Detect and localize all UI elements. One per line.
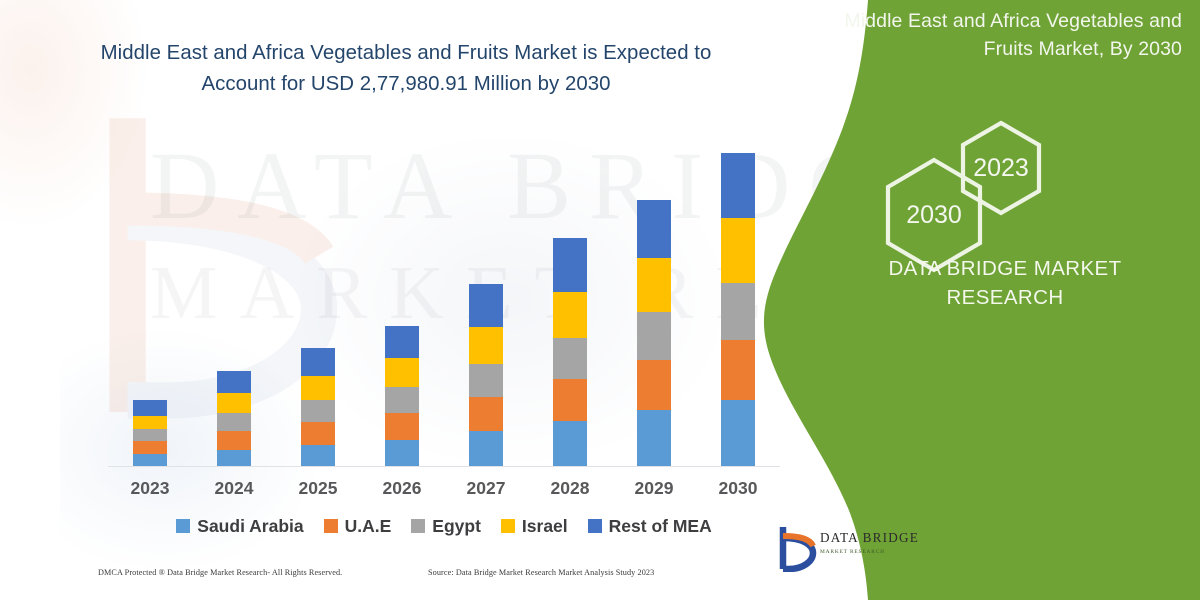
x-axis-label-2025: 2025 bbox=[278, 478, 358, 499]
legend-label: Egypt bbox=[432, 516, 481, 537]
bar-segment-2028-saudiarabia bbox=[553, 421, 587, 466]
right-panel-brand-name: DATA BRIDGE MARKET RESEARCH bbox=[855, 255, 1155, 312]
x-axis-labels: 20232024202520262027202820292030 bbox=[108, 478, 780, 506]
legend-swatch-icon bbox=[588, 519, 602, 533]
x-axis-label-2023: 2023 bbox=[110, 478, 190, 499]
legend-label: Israel bbox=[522, 516, 568, 537]
legend-item-egypt[interactable]: Egypt bbox=[411, 516, 481, 537]
bar-segment-2025-israel bbox=[301, 376, 335, 400]
bar-segment-2028-uae bbox=[553, 379, 587, 421]
bar-segment-2024-uae bbox=[217, 431, 251, 450]
legend-label: Rest of MEA bbox=[609, 516, 712, 537]
bar-2029 bbox=[637, 200, 671, 466]
bar-segment-2023-restofmea bbox=[133, 400, 167, 416]
bar-segment-2030-uae bbox=[721, 340, 755, 400]
bar-segment-2026-saudiarabia bbox=[385, 440, 419, 466]
bar-segment-2029-uae bbox=[637, 360, 671, 410]
legend-label: Saudi Arabia bbox=[197, 516, 303, 537]
brand-logo-tagline: MARKET RESEARCH bbox=[820, 549, 920, 555]
bar-segment-2023-saudiarabia bbox=[133, 454, 167, 466]
bar-2026 bbox=[385, 326, 419, 466]
bar-segment-2025-restofmea bbox=[301, 348, 335, 376]
x-axis-label-2024: 2024 bbox=[194, 478, 274, 499]
footer-dmca-text: DMCA Protected ® Data Bridge Market Rese… bbox=[98, 568, 342, 577]
bar-segment-2030-saudiarabia bbox=[721, 400, 755, 466]
infographic-canvas: DATA BRIDGE MARKET RESEARCH 202320242025… bbox=[0, 0, 1200, 600]
x-axis-label-2028: 2028 bbox=[530, 478, 610, 499]
bar-segment-2025-saudiarabia bbox=[301, 445, 335, 466]
legend-item-restofmea[interactable]: Rest of MEA bbox=[588, 516, 712, 537]
bar-segment-2024-saudiarabia bbox=[217, 450, 251, 466]
bar-segment-2023-israel bbox=[133, 416, 167, 429]
x-axis-label-2027: 2027 bbox=[446, 478, 526, 499]
bar-segment-2025-egypt bbox=[301, 400, 335, 422]
legend-swatch-icon bbox=[411, 519, 425, 533]
bar-segment-2029-restofmea bbox=[637, 200, 671, 258]
bar-2030 bbox=[721, 153, 755, 466]
legend-item-uae[interactable]: U.A.E bbox=[324, 516, 392, 537]
bar-segment-2024-egypt bbox=[217, 413, 251, 431]
bar-segment-2023-uae bbox=[133, 441, 167, 454]
bar-segment-2027-saudiarabia bbox=[469, 431, 503, 466]
bar-2027 bbox=[469, 284, 503, 466]
bar-segment-2028-egypt bbox=[553, 338, 587, 379]
bar-segment-2024-restofmea bbox=[217, 371, 251, 393]
bar-segment-2023-egypt bbox=[133, 429, 167, 441]
legend-swatch-icon bbox=[176, 519, 190, 533]
legend-label: U.A.E bbox=[345, 516, 392, 537]
x-axis-label-2026: 2026 bbox=[362, 478, 442, 499]
bar-segment-2030-israel bbox=[721, 218, 755, 283]
legend-item-israel[interactable]: Israel bbox=[501, 516, 568, 537]
bar-2028 bbox=[553, 238, 587, 466]
brand-logo-name: DATA BRIDGE bbox=[820, 530, 920, 546]
bar-segment-2026-egypt bbox=[385, 387, 419, 413]
legend-swatch-icon bbox=[324, 519, 338, 533]
bar-segment-2029-saudiarabia bbox=[637, 410, 671, 466]
data-bridge-logo-icon bbox=[772, 524, 818, 572]
bar-segment-2027-uae bbox=[469, 397, 503, 431]
chart-legend: Saudi ArabiaU.A.EEgyptIsraelRest of MEA bbox=[108, 512, 780, 540]
bar-segment-2027-egypt bbox=[469, 364, 503, 397]
bar-segment-2028-restofmea bbox=[553, 238, 587, 292]
bar-segment-2030-restofmea bbox=[721, 153, 755, 218]
bar-segment-2026-uae bbox=[385, 413, 419, 440]
bar-segment-2029-egypt bbox=[637, 312, 671, 360]
bar-segment-2028-israel bbox=[553, 292, 587, 338]
bar-2025 bbox=[301, 348, 335, 466]
bar-2024 bbox=[217, 371, 251, 466]
bar-segment-2027-restofmea bbox=[469, 284, 503, 327]
bar-segment-2026-israel bbox=[385, 358, 419, 387]
bar-2023 bbox=[133, 400, 167, 466]
bar-segment-2026-restofmea bbox=[385, 326, 419, 358]
page-title: Middle East and Africa Vegetables and Fr… bbox=[96, 38, 716, 99]
x-axis-label-2029: 2029 bbox=[614, 478, 694, 499]
bar-segment-2030-egypt bbox=[721, 283, 755, 340]
legend-swatch-icon bbox=[501, 519, 515, 533]
brand-logo-text: DATA BRIDGE MARKET RESEARCH bbox=[820, 530, 920, 555]
brand-logo: DATA BRIDGE MARKET RESEARCH bbox=[772, 520, 920, 576]
footer: DMCA Protected ® Data Bridge Market Rese… bbox=[0, 568, 800, 588]
chart-baseline bbox=[108, 466, 780, 467]
bar-segment-2025-uae bbox=[301, 422, 335, 445]
right-panel: Middle East and Africa Vegetables and Fr… bbox=[760, 0, 1200, 600]
footer-source-text: Source: Data Bridge Market Research Mark… bbox=[428, 568, 654, 577]
bar-segment-2029-israel bbox=[637, 258, 671, 312]
legend-item-saudiarabia[interactable]: Saudi Arabia bbox=[176, 516, 303, 537]
bar-segment-2027-israel bbox=[469, 327, 503, 364]
bar-segment-2024-israel bbox=[217, 393, 251, 413]
